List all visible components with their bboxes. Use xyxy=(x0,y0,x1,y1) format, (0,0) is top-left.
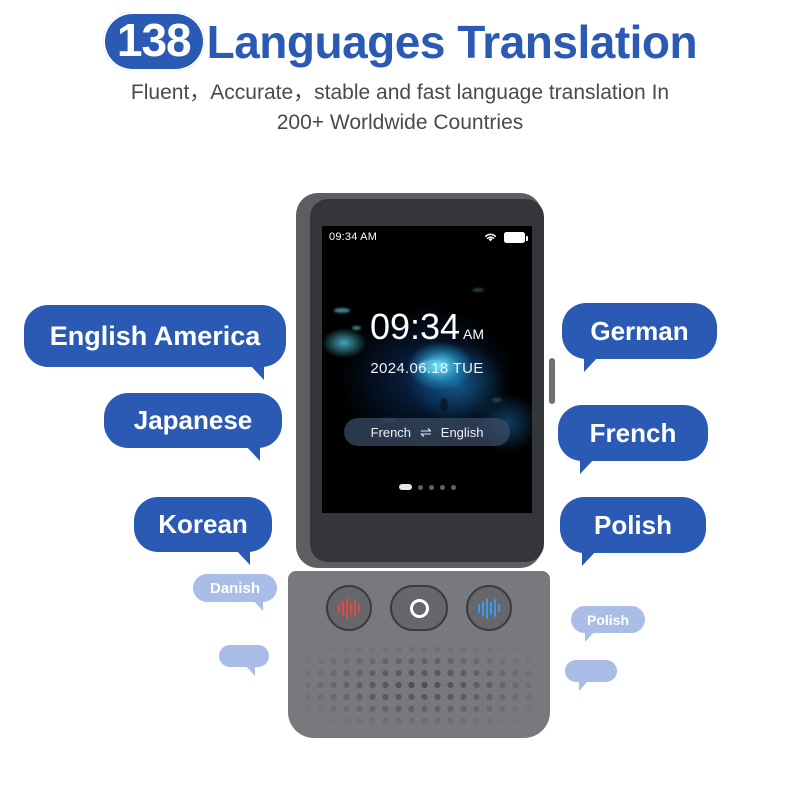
language-bubble-polish-small[interactable]: Polish xyxy=(571,606,645,633)
target-language[interactable]: English xyxy=(441,425,484,440)
language-bubble-danish[interactable]: Danish xyxy=(193,574,277,602)
page-dot[interactable] xyxy=(429,485,434,490)
lockscreen-clock: 09:34AM xyxy=(322,306,532,348)
language-bubble-german[interactable]: German xyxy=(562,303,717,359)
status-bar-icons xyxy=(483,231,525,243)
language-bubble-japanese[interactable]: Japanese xyxy=(104,393,282,448)
language-bubble-empty-right[interactable] xyxy=(565,660,617,682)
language-bubble-empty-left[interactable] xyxy=(219,645,269,667)
wifi-icon xyxy=(483,231,498,243)
battery-full-icon xyxy=(504,232,525,243)
translator-device: 09:34 AM 09:34AM 2024.06.18 TUE French ⇌ xyxy=(288,193,550,738)
control-row xyxy=(288,585,550,633)
record-target-button[interactable] xyxy=(466,585,512,631)
page-indicator xyxy=(322,484,532,490)
status-bar: 09:34 AM xyxy=(322,226,532,248)
record-source-button[interactable] xyxy=(326,585,372,631)
device-upper-shell: 09:34 AM 09:34AM 2024.06.18 TUE French ⇌ xyxy=(296,193,542,568)
page-dot[interactable] xyxy=(440,485,445,490)
headline-text: Languages Translation xyxy=(207,15,698,69)
languages-count-badge: 138 xyxy=(103,12,205,71)
waveform-blue-icon xyxy=(478,597,501,619)
clock-ampm: AM xyxy=(463,326,484,342)
page-dot[interactable] xyxy=(451,485,456,490)
waveform-red-icon xyxy=(338,597,361,619)
home-ring-icon xyxy=(410,599,429,618)
page-subtitle: Fluent，Accurate，stable and fast language… xyxy=(0,78,800,138)
home-button[interactable] xyxy=(390,585,448,631)
speaker-grille xyxy=(288,643,550,729)
page-dot-active[interactable] xyxy=(399,484,412,490)
device-lower-shell xyxy=(288,571,550,738)
language-bubble-english-america[interactable]: English America xyxy=(24,305,286,367)
lockscreen-date: 2024.06.18 TUE xyxy=(322,360,532,377)
clock-time: 09:34 xyxy=(370,306,460,347)
source-language[interactable]: French xyxy=(371,425,411,440)
swap-languages-icon[interactable]: ⇌ xyxy=(420,424,432,441)
language-bubble-polish[interactable]: Polish xyxy=(560,497,706,553)
language-bubble-french[interactable]: French xyxy=(558,405,708,461)
power-button[interactable] xyxy=(549,358,555,404)
page-title: 138Languages Translation xyxy=(0,12,800,71)
status-bar-time: 09:34 AM xyxy=(329,231,377,243)
language-pair-bar[interactable]: French ⇌ English xyxy=(344,418,510,446)
language-bubble-korean[interactable]: Korean xyxy=(134,497,272,552)
subtitle-line-1: Fluent，Accurate，stable and fast language… xyxy=(0,78,800,108)
subtitle-line-2: 200+ Worldwide Countries xyxy=(0,108,800,138)
device-screen[interactable]: 09:34 AM 09:34AM 2024.06.18 TUE French ⇌ xyxy=(322,226,532,513)
page-dot[interactable] xyxy=(418,485,423,490)
